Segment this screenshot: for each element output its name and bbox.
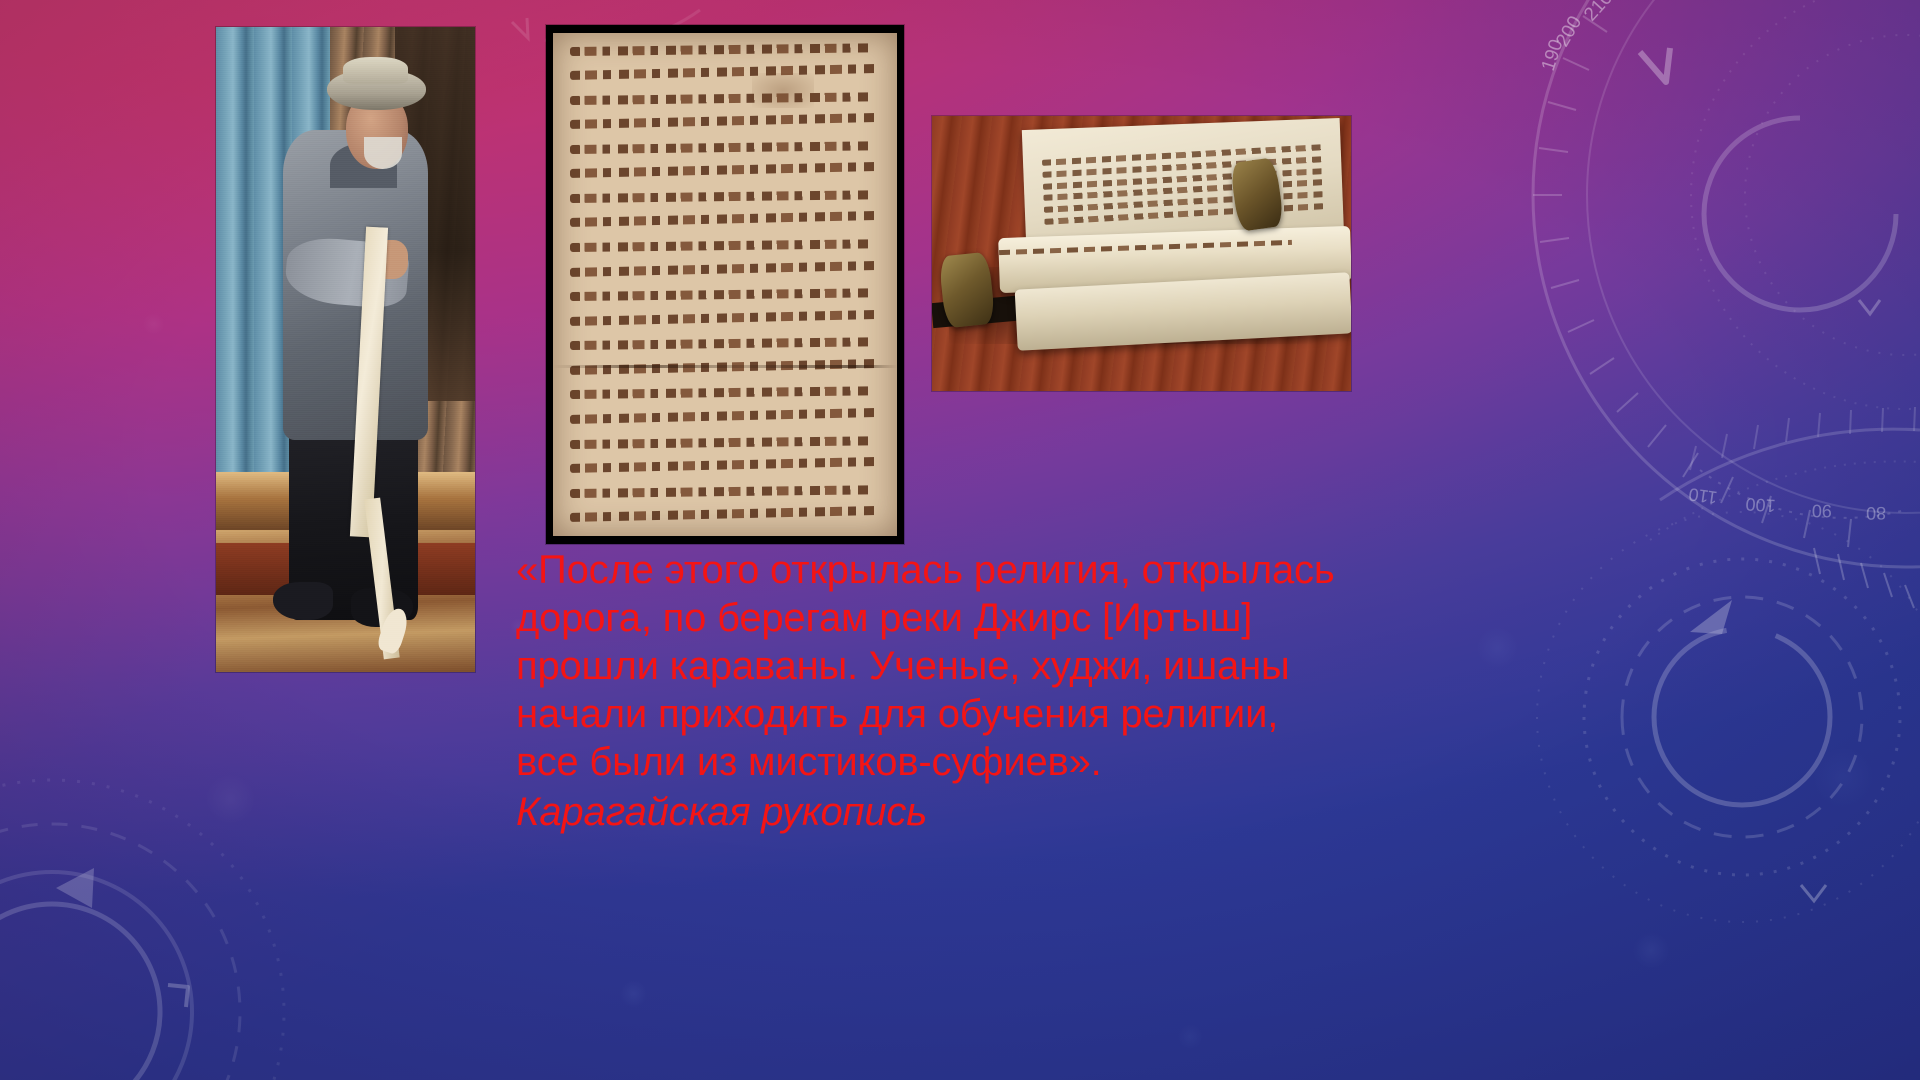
photo-rolled-scroll [932, 116, 1351, 391]
quote-line-2: дорога, по берегам реки Джирс [Иртыш] [516, 594, 1396, 642]
quote-attribution: Карагайская рукопись [516, 788, 1396, 836]
photo-manuscript-page [546, 25, 904, 544]
quote-line-3: прошли караваны. Ученые, худжи, ишаны [516, 642, 1396, 690]
presentation-slide: 190 200 210 110 100 90 80 [0, 0, 1920, 1080]
quote-text-block: «После этого открылась религия, открылас… [516, 546, 1396, 836]
quote-line-4: начали приходить для обучения религии, [516, 690, 1396, 738]
quote-line-1: «После этого открылась религия, открылас… [516, 546, 1396, 594]
photo-elder-film-grain [216, 27, 475, 672]
photo-manuscript-aged-edge [553, 33, 897, 536]
quote-line-5: все были из мистиков-суфиев». [516, 738, 1396, 786]
photo-elder-with-scroll [216, 27, 475, 672]
photo-manuscript-paper [553, 33, 897, 536]
